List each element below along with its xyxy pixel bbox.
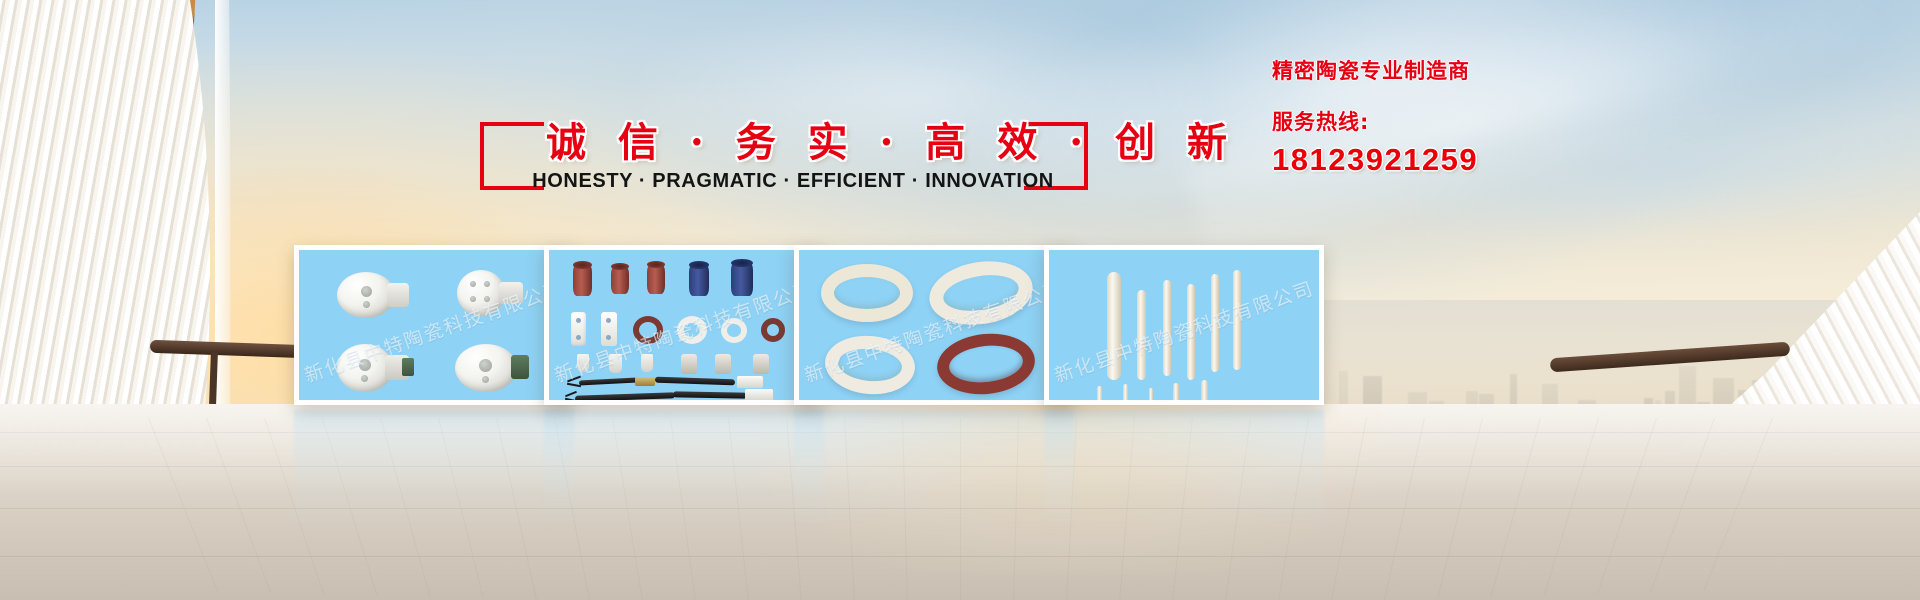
slogan-english: HONESTY · PRAGMATIC · EFFICIENT · INNOVA…: [508, 170, 1078, 193]
bracket-top-left: [480, 122, 544, 126]
hotline-label: 服务热线:: [1272, 106, 1592, 136]
hero-banner: 新化县中特陶瓷科技有限公司: [0, 0, 1920, 600]
company-tagline: 精密陶瓷专业制造商: [1272, 55, 1592, 85]
hotline-number[interactable]: 18123921259: [1272, 142, 1592, 178]
bracket-left-vertical: [480, 122, 484, 190]
product-panel-ceramic-rings-and-seals[interactable]: 新化县中特陶瓷科技有限公司: [794, 245, 1074, 405]
product-panel-ceramic-rods[interactable]: 新化县中特陶瓷科技有限公司: [1044, 245, 1324, 405]
product-panel-ceramic-tubes-and-terminals[interactable]: 新化县中特陶瓷科技有限公司: [544, 245, 824, 405]
product-panel-ceramic-lamp-holders[interactable]: 新化县中特陶瓷科技有限公司: [294, 245, 574, 405]
panel-watermark: 新化县中特陶瓷科技有限公司: [1051, 274, 1318, 388]
product-panel-group: 新化县中特陶瓷科技有限公司: [0, 0, 1920, 600]
contact-block: 精密陶瓷专业制造商 服务热线: 18123921259: [1272, 55, 1592, 178]
slogan-chinese: 诚 信 · 务 实 · 高 效 · 创 新: [546, 110, 1036, 168]
